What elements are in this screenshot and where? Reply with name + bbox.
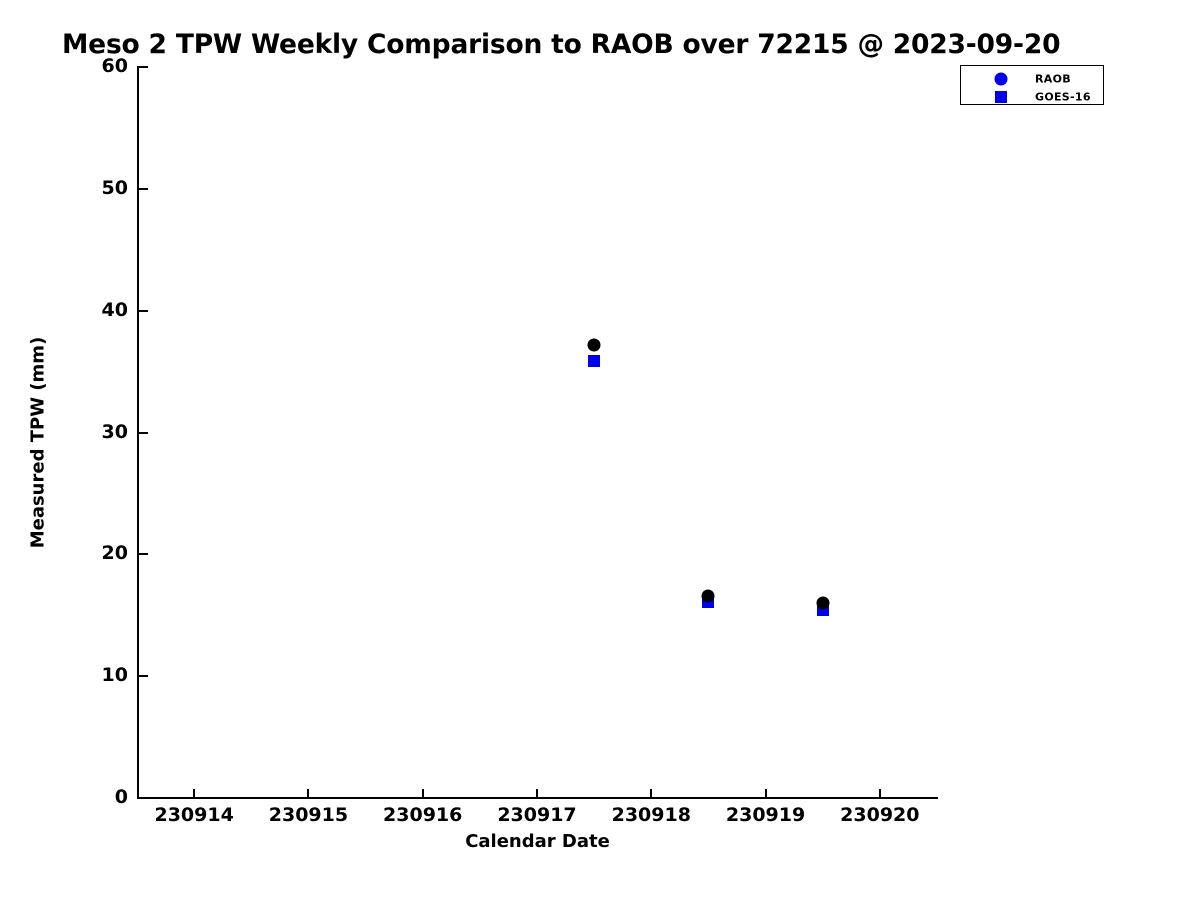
chart-legend: RAOBGOES-16 [960, 65, 1104, 105]
x-tick-mark [536, 789, 538, 798]
x-axis-label: Calendar Date [0, 831, 1075, 852]
y-tick-label: 10 [72, 664, 128, 686]
x-tick-mark [422, 789, 424, 798]
y-tick-mark [139, 553, 148, 555]
y-tick-mark [139, 675, 148, 677]
y-tick-label: 0 [72, 786, 128, 808]
x-tick-mark [307, 789, 309, 798]
data-point-goes-16 [588, 355, 600, 367]
y-tick-mark [139, 188, 148, 190]
legend-label: RAOB [1035, 73, 1071, 86]
y-tick-label: 60 [72, 55, 128, 77]
x-tick-mark [765, 789, 767, 798]
y-tick-mark [139, 797, 148, 799]
chart-figure: Meso 2 TPW Weekly Comparison to RAOB ove… [0, 0, 1200, 900]
data-point-raob [702, 589, 715, 602]
data-point-raob [588, 338, 601, 351]
y-tick-mark [139, 310, 148, 312]
y-tick-label: 40 [72, 299, 128, 321]
y-tick-label: 30 [72, 421, 128, 443]
page-title: Meso 2 TPW Weekly Comparison to RAOB ove… [62, 29, 1060, 60]
x-tick-mark [650, 789, 652, 798]
legend-circle-icon [995, 73, 1008, 86]
legend-label: GOES-16 [1035, 91, 1091, 104]
y-axis-label: Measured TPW (mm) [28, 143, 49, 743]
y-tick-label: 50 [72, 177, 128, 199]
y-tick-mark [139, 66, 148, 68]
x-tick-mark [879, 789, 881, 798]
legend-item-raob[interactable]: RAOB [961, 69, 1103, 89]
data-point-raob [816, 597, 829, 610]
legend-square-icon [995, 91, 1007, 103]
y-tick-label: 20 [72, 542, 128, 564]
y-tick-mark [139, 432, 148, 434]
x-tick-mark [193, 789, 195, 798]
x-tick-label: 230920 [810, 804, 950, 826]
legend-item-goes-16[interactable]: GOES-16 [961, 87, 1103, 107]
